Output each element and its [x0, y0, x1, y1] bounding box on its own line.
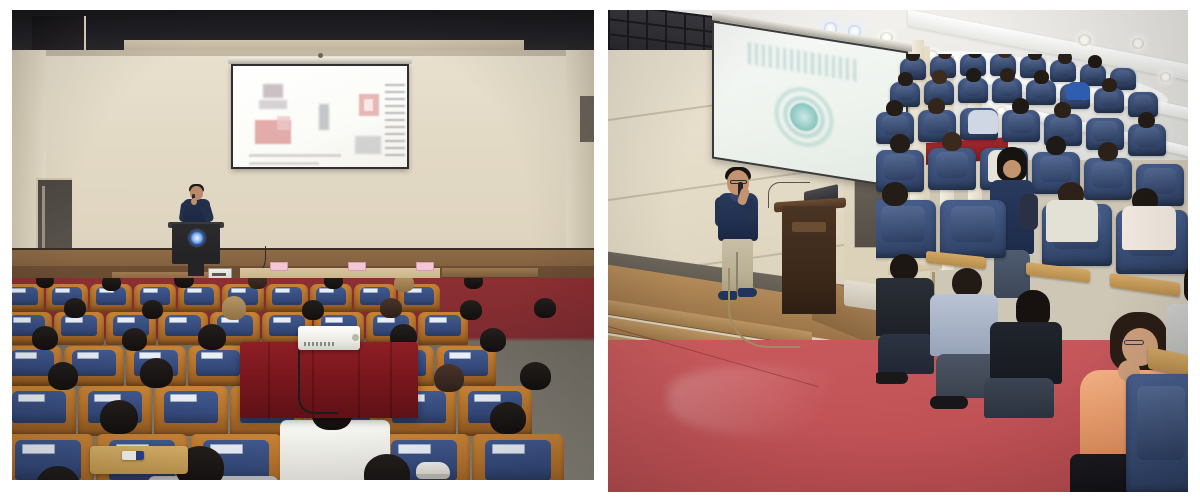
seat-number-tag [275, 288, 290, 292]
audience-head [380, 298, 402, 318]
audience-head [480, 328, 506, 352]
attendee-shoe [876, 372, 908, 384]
seat [12, 284, 44, 312]
audience-head [394, 278, 414, 292]
slide-caption-line-1 [249, 154, 341, 157]
screen-housing [228, 57, 412, 64]
microphone-cable [728, 268, 800, 348]
stage-step-right [442, 268, 538, 278]
wall-right-pilaster [566, 50, 594, 265]
seat-number-tag [429, 317, 447, 322]
seat-number-tag [474, 394, 501, 402]
seat-number-tag [169, 317, 187, 322]
audience-head [222, 296, 246, 320]
audience-head [928, 98, 945, 114]
audience-head [1046, 136, 1066, 155]
audience-head [1058, 54, 1072, 64]
photo-composite [0, 0, 1200, 500]
lectern-front-panel [792, 222, 826, 232]
seat-number-tag [15, 352, 37, 358]
projector-lens-icon [352, 334, 359, 341]
attendee-face [1003, 160, 1021, 178]
audience-head [966, 68, 981, 82]
slide-caption-line-2 [249, 162, 319, 165]
audience-head [32, 326, 58, 350]
projector-cable [298, 350, 338, 414]
audience-head [460, 300, 482, 320]
floor-box-detail [212, 273, 226, 276]
audience-head [534, 298, 556, 318]
ceiling-downlight-icon [1132, 38, 1144, 49]
audience-head [1098, 142, 1118, 161]
audience-torso [1046, 200, 1098, 242]
seat-number-tag [170, 394, 197, 402]
seat [1126, 374, 1188, 492]
audience-head [1088, 55, 1102, 68]
audience-head [1012, 98, 1029, 114]
seat-number-tag [18, 394, 45, 402]
seated-attendee [980, 290, 1076, 440]
audience-head [1054, 102, 1071, 118]
seat [12, 386, 76, 436]
seat-number-tag [201, 352, 223, 358]
audience-head [490, 402, 526, 434]
slide-text-column [385, 84, 405, 158]
seat-number-tag [55, 288, 70, 292]
seat-number-tag [377, 317, 395, 322]
audience-head [198, 324, 226, 350]
seat-number-tag [13, 317, 31, 322]
seat [188, 346, 248, 386]
seat-number-tag [492, 444, 525, 454]
podium-base [188, 262, 204, 276]
audience-area [876, 54, 1188, 492]
slide-diagram-red-inner [277, 116, 290, 130]
seat [928, 148, 976, 190]
seat-number-tag [325, 317, 343, 322]
equipment-bag [844, 280, 878, 311]
seat-number-tag [143, 288, 158, 292]
university-seal-icon [189, 230, 205, 246]
wall-vent [580, 96, 594, 142]
audience-head [434, 364, 464, 392]
attendee-bag [984, 378, 1054, 418]
seat-number-tag [12, 288, 26, 292]
audience-head [64, 298, 86, 318]
audience-head [122, 328, 147, 351]
seat [876, 200, 936, 258]
audience-head [898, 72, 913, 86]
seat [1002, 110, 1040, 142]
slide-diagram-grey [319, 104, 329, 130]
seat-number-tag [187, 288, 202, 292]
speaker-hand [191, 198, 197, 205]
attendee-head [890, 254, 918, 281]
audience-head [100, 400, 138, 434]
slide-title-block [263, 84, 283, 98]
seat-number-tag [319, 288, 334, 292]
seat [154, 386, 228, 436]
seat-number-tag [22, 444, 55, 454]
audience-head [886, 100, 903, 116]
projector-vents [304, 342, 334, 346]
shoe-sole [416, 474, 450, 479]
attendee-shoe [930, 396, 968, 409]
seat-number-tag [273, 317, 291, 322]
name-card [416, 262, 434, 271]
attendee-head [952, 268, 982, 297]
seat-number-tag [398, 444, 431, 454]
projection-screen [231, 64, 409, 169]
seat [1128, 124, 1166, 156]
seat [1084, 158, 1132, 200]
attendee-hair [1184, 260, 1188, 304]
projector [298, 326, 360, 350]
glasses-icon [1124, 340, 1144, 345]
slide-chart-block [355, 136, 381, 154]
audience-head [1102, 78, 1117, 92]
seat-number-tag [449, 352, 471, 358]
audience-head [142, 300, 163, 319]
seat [418, 312, 468, 345]
audience-head [932, 70, 947, 84]
screen-mount-pin [318, 53, 323, 58]
attendee-hair [1016, 290, 1050, 326]
slide-subtitle-block [259, 100, 287, 109]
audience-head [942, 132, 962, 151]
attendee-torso [990, 322, 1062, 384]
audience-torso [1122, 206, 1176, 250]
wall-seam [12, 54, 594, 56]
audience-torso [1066, 82, 1090, 100]
audience-head [1138, 112, 1155, 128]
seat-number-tag [363, 288, 378, 292]
photo-left [12, 10, 594, 480]
audience-head [302, 300, 324, 320]
audience-head [1034, 70, 1049, 84]
seat-number-tag [117, 317, 135, 322]
seat-number-tag [231, 288, 246, 292]
seat [472, 434, 564, 480]
seat [178, 284, 220, 312]
name-card [348, 262, 366, 271]
slide-diagram-red-2-inner [364, 99, 373, 111]
audience-torso [968, 110, 998, 134]
audience-head [890, 134, 910, 153]
audience-head [882, 182, 908, 206]
seat-number-tag [77, 352, 99, 358]
marker-cap [136, 451, 144, 460]
audience-head [1000, 68, 1015, 82]
name-card [270, 262, 288, 271]
attendee-shoulder-bag [1020, 194, 1038, 230]
seat [940, 200, 1006, 258]
photo-right [608, 10, 1188, 492]
seat-number-tag [65, 317, 83, 322]
audience-head [140, 358, 173, 388]
audience-head [48, 362, 78, 390]
audience-head [102, 278, 121, 291]
audience-head [520, 362, 551, 390]
ceiling-downlight-icon [1078, 34, 1091, 46]
